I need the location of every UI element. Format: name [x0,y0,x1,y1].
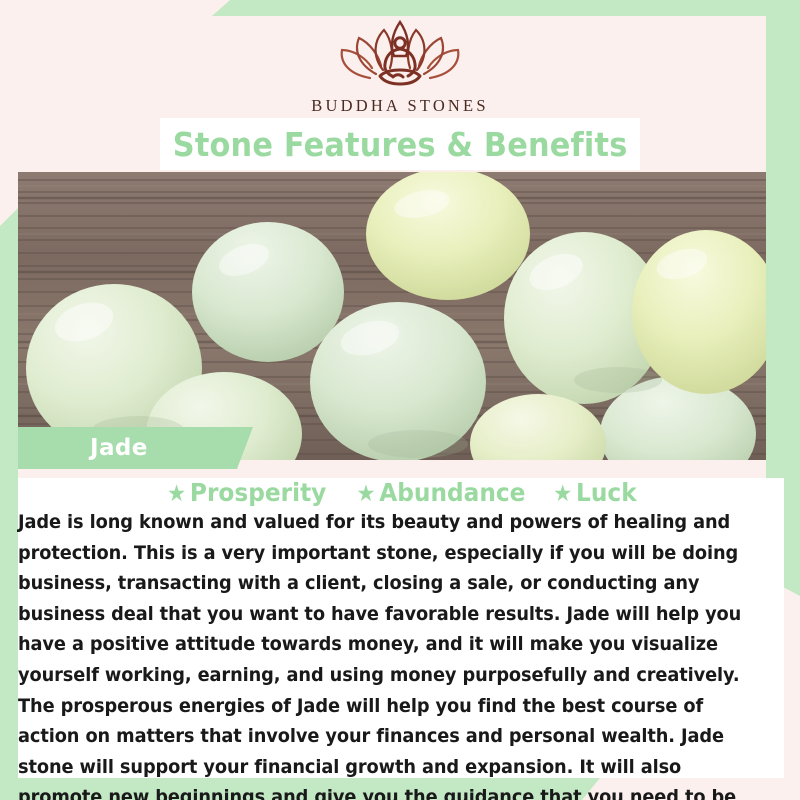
brand-name: BUDDHA STONES [0,96,800,116]
star-icon: ★ [553,481,572,507]
brand-header: BUDDHA STONES [0,16,800,116]
page-title-band: Stone Features & Benefits [160,118,640,170]
benefits-list: ★Prosperity★Abundance★Luck [0,478,800,507]
benefit-item: ★Prosperity [167,478,326,507]
stone-info-poster: BUDDHA STONES Stone Features & Benefits [0,0,800,800]
star-icon: ★ [167,481,186,507]
benefit-label: Luck [576,478,637,507]
benefit-label: Abundance [379,478,525,507]
benefit-label: Prosperity [189,478,325,507]
stone-photo [18,172,766,460]
star-icon: ★ [356,481,375,507]
lotus-meditation-icon [336,16,464,90]
benefit-item: ★Luck [553,478,637,507]
page-title: Stone Features & Benefits [173,125,628,164]
benefit-item: ★Abundance [356,478,525,507]
description-text: Jade is long known and valued for its be… [18,508,751,800]
stone-name: Jade [90,435,148,461]
stone-name-badge: Jade [18,427,253,469]
decorative-band-top-right [212,0,800,16]
